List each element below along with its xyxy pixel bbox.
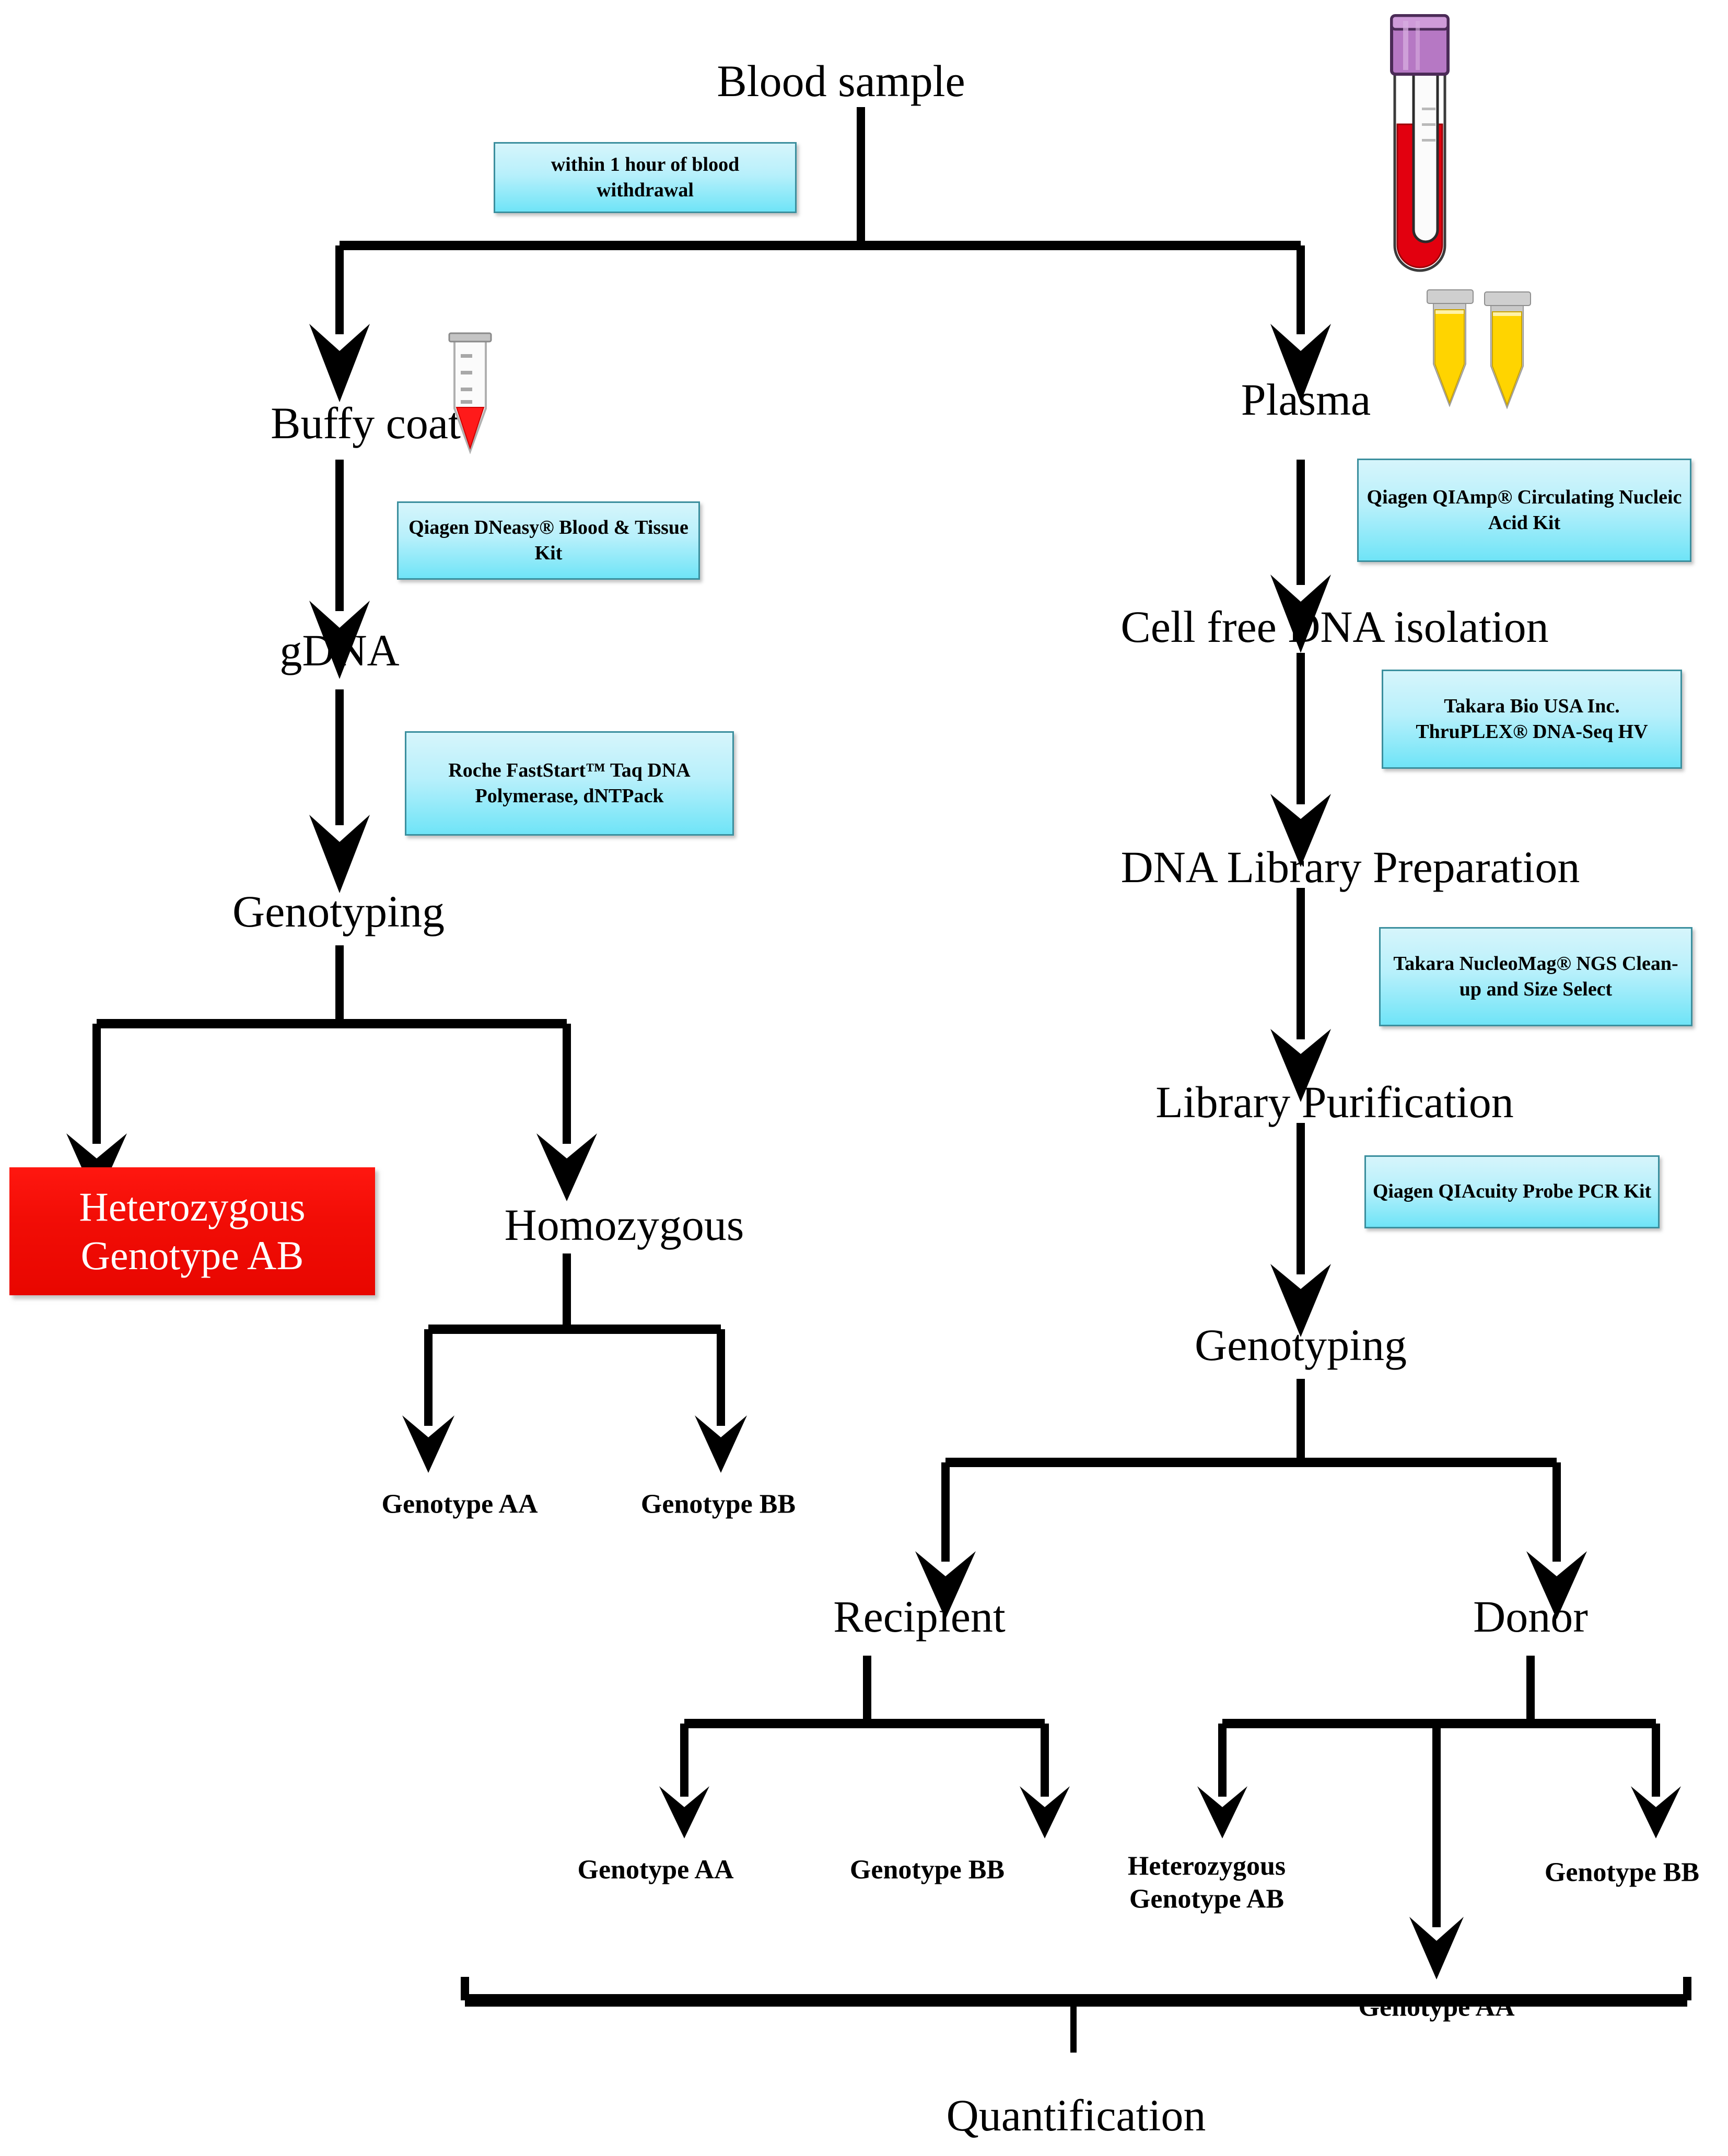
highlight-line-1: Heterozygous [79, 1183, 305, 1231]
node-buffy-coat: Buffy coat [271, 400, 461, 447]
highlight-line-2: Genotype AB [81, 1232, 304, 1280]
node-donor: Donor [1473, 1593, 1588, 1640]
node-genotyping-right: Genotyping [1195, 1321, 1407, 1368]
terminal-donor-genotype-bb: Genotype BB [1545, 1856, 1699, 1888]
plasma-microtube-icon [1400, 285, 1551, 415]
annotation-within-1-hour: within 1 hour of blood withdrawal [494, 142, 797, 213]
arrowhead-buffy [309, 324, 370, 402]
annotation-roche-faststart: Roche FastStart™ Taq DNA Polymerase, dNT… [405, 731, 734, 836]
annotation-takara-nucleomag: Takara NucleoMag® NGS Clean-up and Size … [1379, 927, 1692, 1026]
node-quantification: Quantification [947, 2092, 1206, 2139]
terminal-donor-ab-line-2: Genotype AB [1128, 1883, 1286, 1916]
node-cell-free-dna-isolation: Cell free DNA isolation [1120, 603, 1548, 650]
terminal-donor-ab-line-1: Heterozygous [1128, 1850, 1286, 1883]
node-blood-sample: Blood sample [717, 57, 965, 104]
terminal-recipient-genotype-aa: Genotype AA [578, 1854, 734, 1885]
node-dna-library-preparation: DNA Library Preparation [1121, 843, 1580, 890]
annotation-qiagen-qiacuity: Qiagen QIAcuity Probe PCR Kit [1364, 1155, 1660, 1228]
node-gdna: gDNA [279, 627, 399, 674]
highlight-heterozygous-genotype-ab: Heterozygous Genotype AB [9, 1167, 375, 1295]
terminal-recipient-genotype-bb: Genotype BB [850, 1854, 1005, 1885]
annotation-qiagen-qiamp: Qiagen QIAmp® Circulating Nucleic Acid K… [1357, 459, 1691, 562]
arrowhead-genotyping-left [309, 815, 370, 893]
plasma-tube-left [1427, 290, 1473, 406]
annotation-takara-thruplex: Takara Bio USA Inc. ThruPLEX® DNA-Seq HV [1382, 670, 1682, 769]
node-homozygous: Homozygous [505, 1201, 744, 1248]
blood-collection-tube-icon [1383, 5, 1456, 282]
node-genotyping-left: Genotyping [232, 888, 445, 935]
node-recipient: Recipient [833, 1593, 1006, 1640]
flowchart-canvas: Blood sample Buffy coat gDNA Genotyping … [0, 0, 1728, 2156]
node-plasma: Plasma [1241, 376, 1371, 423]
terminal-donor-heterozygous-ab: Heterozygous Genotype AB [1128, 1850, 1286, 1916]
plasma-tube-right [1485, 292, 1531, 408]
terminal-homozygous-genotype-aa: Genotype AA [382, 1488, 538, 1520]
terminal-donor-genotype-aa: Genotype AA [1359, 1991, 1515, 2023]
annotation-qiagen-dneasy: Qiagen DNeasy® Blood & Tissue Kit [397, 501, 700, 580]
node-library-purification: Library Purification [1155, 1079, 1513, 1126]
buffy-coat-microtube-icon [445, 330, 495, 461]
terminal-homozygous-genotype-bb: Genotype BB [641, 1488, 796, 1520]
